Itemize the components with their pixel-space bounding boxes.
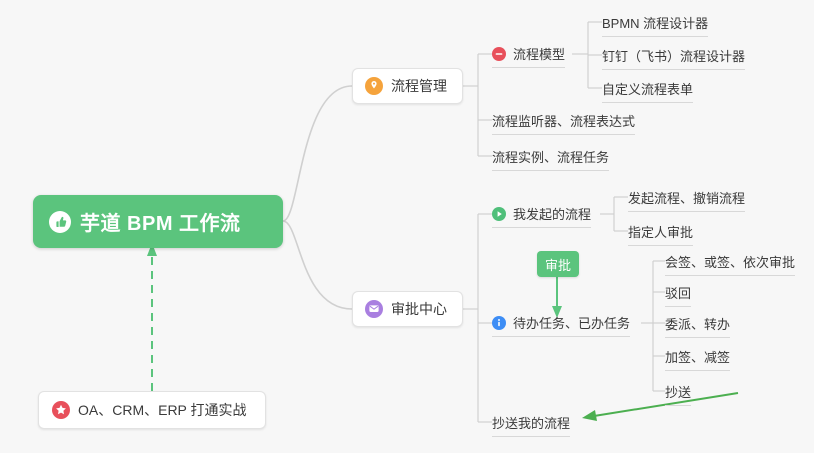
- leaf-process-model[interactable]: 流程模型: [492, 44, 565, 68]
- leaf-cc-to-me[interactable]: 抄送我的流程: [492, 413, 570, 437]
- minus-circle-icon: [492, 47, 506, 61]
- leaf-assign-approver[interactable]: 指定人审批: [628, 222, 693, 246]
- branch-node-process-management[interactable]: 流程管理: [352, 68, 463, 104]
- leaf-label-cc: 抄送: [665, 385, 691, 400]
- leaf-delegate-transfer[interactable]: 委派、转办: [665, 314, 730, 338]
- leaf-start-cancel[interactable]: 发起流程、撤销流程: [628, 188, 745, 212]
- location-pin-icon: [365, 77, 383, 95]
- branch-node-approval-center[interactable]: 审批中心: [352, 291, 463, 327]
- bottom-card-label: OA、CRM、ERP 打通实战: [78, 400, 247, 420]
- play-circle-icon: [492, 207, 506, 221]
- leaf-todo-done-tasks[interactable]: 待办任务、已办任务: [492, 313, 630, 337]
- leaf-label-add-remove-sign: 加签、减签: [665, 350, 730, 365]
- leaf-label-assign-approver: 指定人审批: [628, 225, 693, 240]
- mindmap-canvas: 芋道 BPM 工作流 流程管理 流程模型 流程监听器、流程表达式 流程实例、流程…: [0, 0, 814, 453]
- branch-label-process-management: 流程管理: [391, 76, 447, 96]
- star-circle-icon: [52, 401, 70, 419]
- leaf-label-start-cancel: 发起流程、撤销流程: [628, 191, 745, 206]
- leaf-label-process-instance: 流程实例、流程任务: [492, 150, 609, 165]
- leaf-label-custom-form: 自定义流程表单: [602, 82, 693, 97]
- leaf-process-listener[interactable]: 流程监听器、流程表达式: [492, 111, 635, 135]
- leaf-label-todo-done-tasks: 待办任务、已办任务: [513, 313, 630, 332]
- leaf-add-remove-sign[interactable]: 加签、减签: [665, 347, 730, 371]
- bottom-card-integration[interactable]: OA、CRM、ERP 打通实战: [38, 391, 266, 429]
- leaf-multi-sign[interactable]: 会签、或签、依次审批: [665, 252, 795, 276]
- cc-to-cc-to-me-arrow: [582, 393, 738, 421]
- approval-to-todo-arrow: [552, 277, 562, 318]
- leaf-my-initiated[interactable]: 我发起的流程: [492, 204, 591, 228]
- approval-pill[interactable]: 审批: [537, 251, 579, 277]
- approval-pill-label: 审批: [545, 255, 571, 274]
- leaf-label-delegate-transfer: 委派、转办: [665, 317, 730, 332]
- leaf-reject[interactable]: 驳回: [665, 283, 691, 307]
- leaf-process-instance[interactable]: 流程实例、流程任务: [492, 147, 609, 171]
- leaf-cc[interactable]: 抄送: [665, 382, 691, 406]
- leaf-label-bpmn-designer: BPMN 流程设计器: [602, 16, 708, 31]
- leaf-label-process-listener: 流程监听器、流程表达式: [492, 114, 635, 129]
- info-circle-icon: [492, 316, 506, 330]
- bottom-card-dashed-arrow: [147, 243, 157, 391]
- leaf-custom-form[interactable]: 自定义流程表单: [602, 79, 693, 103]
- leaf-label-process-model: 流程模型: [513, 44, 565, 63]
- thumbs-up-icon: [49, 211, 71, 233]
- leaf-bpmn-designer[interactable]: BPMN 流程设计器: [602, 13, 708, 37]
- leaf-label-dingtalk-designer: 钉钉（飞书）流程设计器: [602, 49, 745, 64]
- leaf-dingtalk-designer[interactable]: 钉钉（飞书）流程设计器: [602, 46, 745, 70]
- leaf-label-reject: 驳回: [665, 286, 691, 301]
- root-node[interactable]: 芋道 BPM 工作流: [33, 195, 283, 248]
- leaf-label-multi-sign: 会签、或签、依次审批: [665, 255, 795, 270]
- leaf-label-my-initiated: 我发起的流程: [513, 204, 591, 223]
- leaf-label-cc-to-me: 抄送我的流程: [492, 416, 570, 431]
- root-node-label: 芋道 BPM 工作流: [80, 207, 241, 236]
- message-icon: [365, 300, 383, 318]
- branch-label-approval-center: 审批中心: [391, 299, 447, 319]
